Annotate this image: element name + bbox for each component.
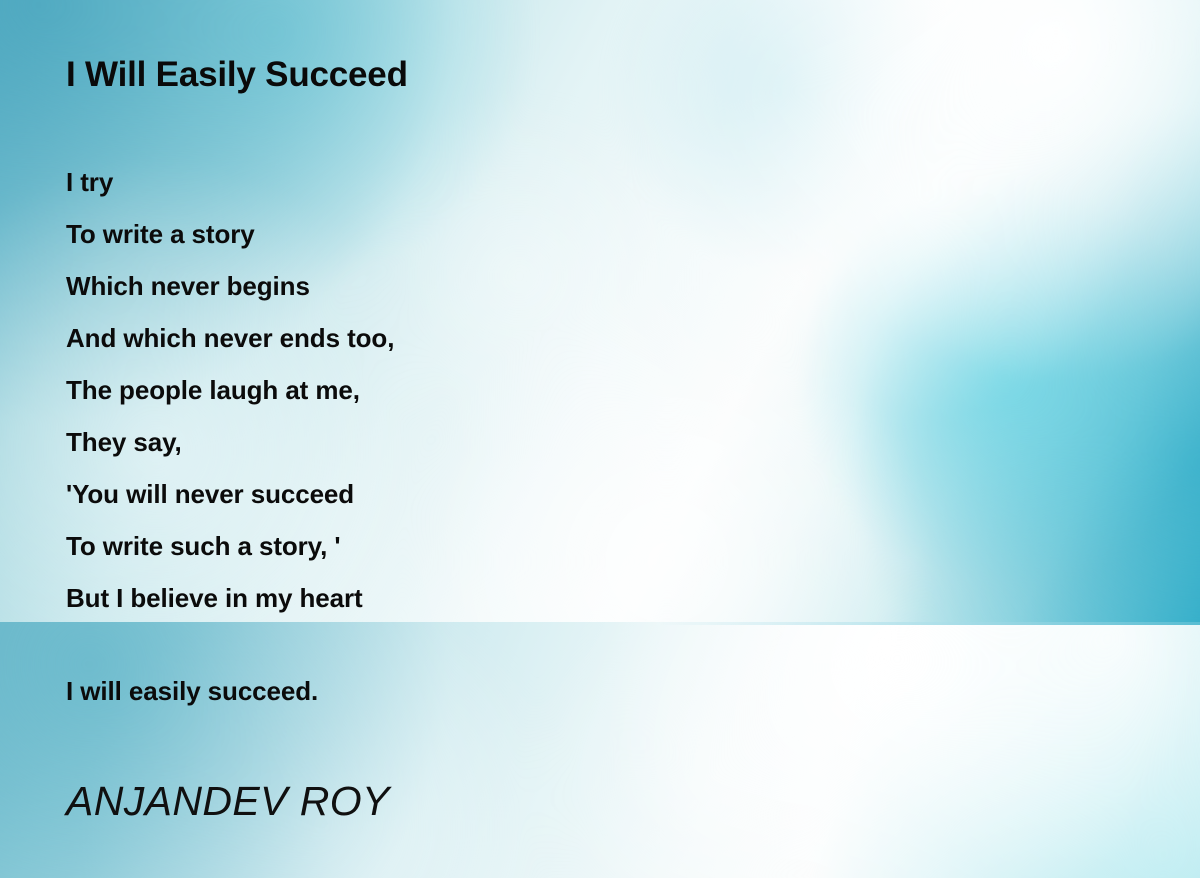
poem-text-layer: I Will Easily Succeed I try To write a s… [0, 0, 1200, 878]
poem-line: And which never ends too, [66, 312, 886, 364]
poem-line: They say, [66, 416, 886, 468]
poem-line: The people laugh at me, [66, 364, 886, 416]
poem-body: I try To write a story Which never begin… [66, 156, 886, 624]
poem-image-card: I Will Easily Succeed I try To write a s… [0, 0, 1200, 878]
poem-title: I Will Easily Succeed [66, 55, 408, 95]
poem-author-name: ANJANDEV ROY [66, 778, 390, 825]
poem-line: I try [66, 156, 886, 208]
poem-line: To write a story [66, 208, 886, 260]
poem-line: But I believe in my heart [66, 572, 886, 624]
poem-line: 'You will never succeed [66, 468, 886, 520]
poem-line: Which never begins [66, 260, 886, 312]
poem-line: To write such a story, ' [66, 520, 886, 572]
poem-closing-line: I will easily succeed. [66, 676, 318, 707]
